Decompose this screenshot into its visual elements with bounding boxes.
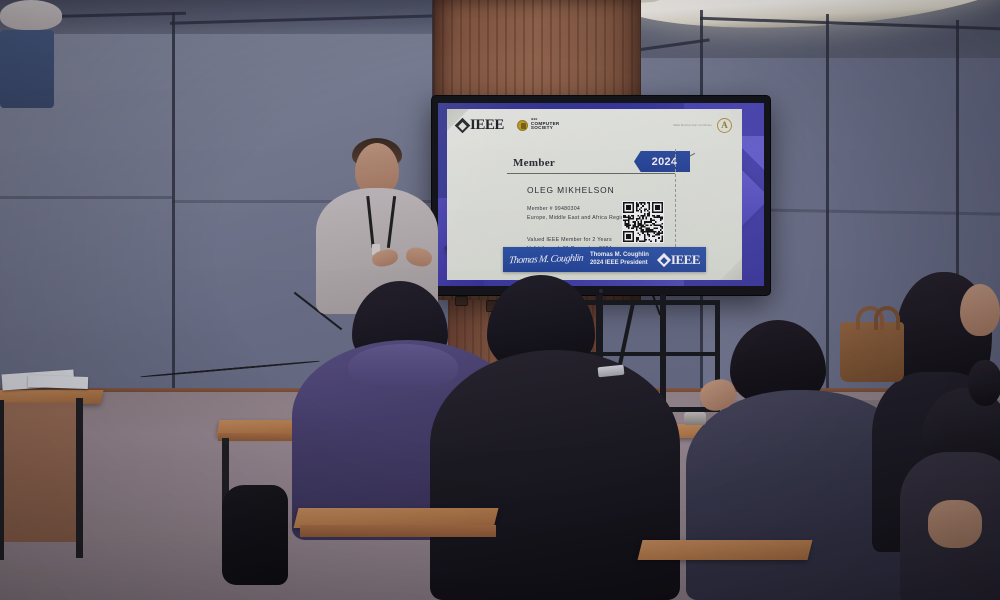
ieee-diamond-icon	[455, 117, 471, 133]
black-backpack	[222, 485, 288, 585]
member-number-line: Member # 99480304	[527, 205, 627, 214]
student-face	[960, 284, 1000, 336]
title-underline	[507, 173, 675, 174]
presenter-hood	[0, 0, 62, 30]
membership-certificate-card: IEEE IEEE COMPUTER SOCIETY IEEE Membersh…	[447, 109, 742, 280]
president-signature-bar: Thomas M. Coughlin Thomas M. Coughlin 20…	[503, 247, 706, 272]
card-corner-fold-bottom-right	[720, 258, 742, 280]
desk-modesty-panel	[0, 402, 80, 542]
membership-grade-label: Member	[513, 157, 555, 169]
paper-stack-on-desk	[28, 375, 88, 389]
desk-leg	[76, 398, 83, 558]
presenter	[0, 0, 62, 108]
footer-ieee-wordmark: IEEE	[671, 252, 700, 268]
membership-qr-code	[622, 201, 664, 243]
corner-tiny-caption: IEEE Membership Certificate	[673, 124, 712, 127]
member-tenure-line: Valued IEEE Member for 2 Years	[527, 236, 612, 245]
presenter-jeans	[0, 30, 54, 108]
year-badge-text: 2024	[647, 156, 678, 168]
perforation-dashed-line	[675, 149, 676, 257]
ieee-wordmark: IEEE	[470, 118, 504, 133]
student-hood-fold	[348, 344, 458, 390]
president-title: 2024 IEEE President	[590, 260, 649, 268]
handbag-handle	[874, 306, 900, 330]
computer-society-wordmark: IEEE COMPUTER SOCIETY	[531, 119, 560, 131]
desk-surface	[638, 540, 813, 560]
ieee-computer-society-logo: IEEE COMPUTER SOCIETY	[517, 119, 560, 131]
member-name: OLEG MIKHELSON	[527, 185, 615, 195]
student-hair	[968, 360, 1000, 406]
student-torso	[430, 350, 680, 600]
wristwatch	[684, 412, 706, 425]
computer-society-seal-icon	[517, 120, 528, 131]
student-hand	[928, 500, 982, 548]
footer-ieee-diamond-icon	[657, 252, 671, 266]
ieee-logo: IEEE	[457, 118, 504, 133]
brown-leather-handbag	[840, 322, 904, 382]
president-name: Thomas M. Coughlin	[590, 252, 649, 260]
desk-leg	[0, 400, 4, 560]
lecture-room-photo: IEEE IEEE COMPUTER SOCIETY IEEE Membersh…	[0, 0, 1000, 600]
footer-ieee-logo: IEEE	[659, 252, 700, 268]
certificate-slide: IEEE IEEE COMPUTER SOCIETY IEEE Membersh…	[438, 103, 764, 286]
qr-code-canvas	[623, 202, 663, 242]
wall-mounted-television[interactable]: IEEE IEEE COMPUTER SOCIETY IEEE Membersh…	[432, 96, 770, 295]
certificate-header: IEEE IEEE COMPUTER SOCIETY IEEE Membersh…	[457, 114, 732, 136]
member-region-line: Europe, Middle East and Africa Region	[527, 214, 627, 223]
year-ribbon-badge: 2024	[634, 151, 690, 172]
wall-seam	[826, 14, 829, 392]
display-screen: IEEE IEEE COMPUTER SOCIETY IEEE Membersh…	[438, 103, 764, 286]
desk-front-edge	[300, 525, 496, 537]
corner-emblem-icon: A	[717, 118, 732, 133]
power-outlet	[455, 296, 468, 306]
president-signature-script: Thomas M. Coughlin	[508, 253, 583, 267]
member-details: Member # 99480304 Europe, Middle East an…	[527, 205, 627, 222]
certificate-corner-mark: IEEE Membership Certificate A	[673, 118, 732, 133]
television-power-led	[599, 289, 603, 293]
wall-seam	[0, 196, 172, 199]
cs-line-3: SOCIETY	[531, 126, 560, 131]
president-identity: Thomas M. Coughlin 2024 IEEE President	[590, 252, 649, 267]
